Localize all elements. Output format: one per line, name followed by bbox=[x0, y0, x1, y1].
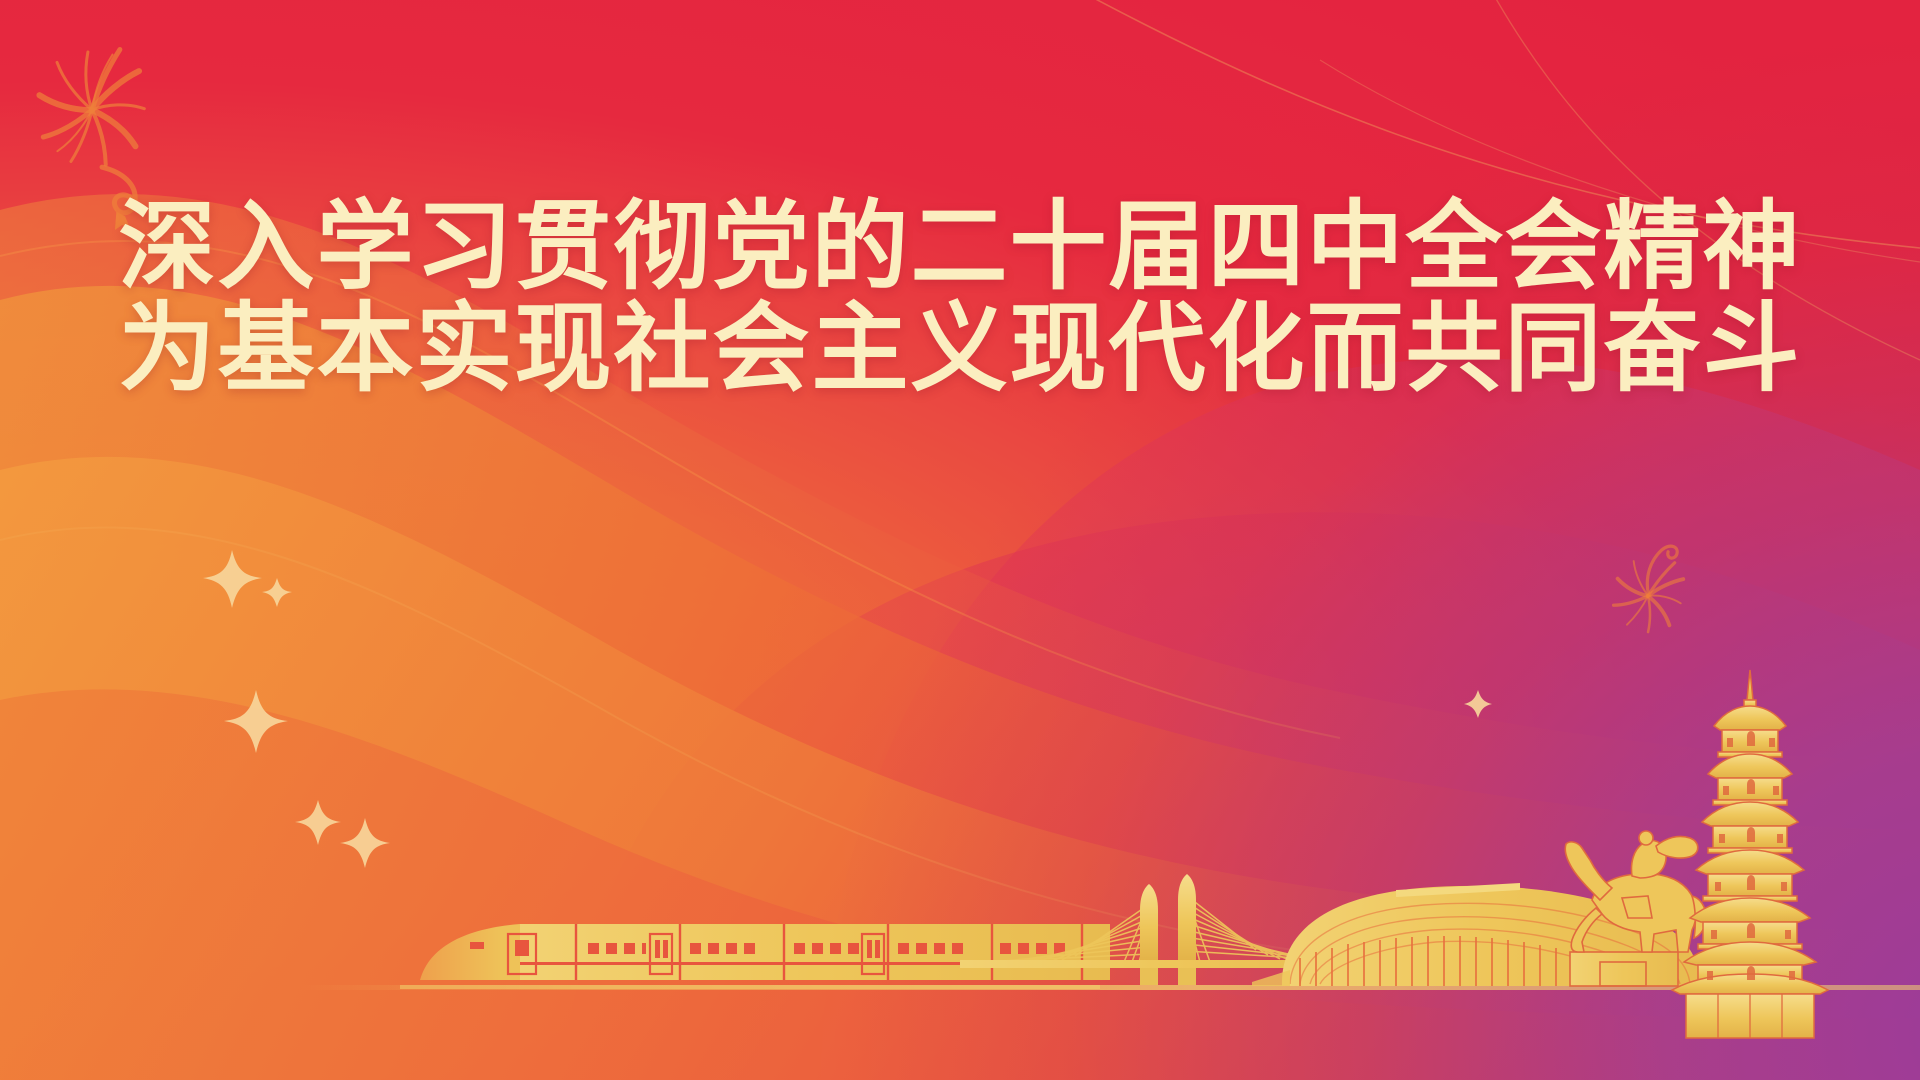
pagoda-base-dividers bbox=[1718, 994, 1782, 1038]
saddle-blanket bbox=[1622, 896, 1652, 918]
pagoda-body-2 bbox=[1718, 778, 1782, 800]
pagoda-balcony-4 bbox=[1703, 896, 1797, 901]
train-doors bbox=[508, 934, 884, 974]
pagoda-balcony-2 bbox=[1713, 800, 1787, 805]
horse-head bbox=[1565, 842, 1612, 900]
pagoda-body-5 bbox=[1703, 922, 1797, 944]
bridge-pier-right bbox=[1178, 968, 1196, 985]
sparkle-star bbox=[224, 690, 288, 753]
pagoda-roof-4 bbox=[1696, 850, 1804, 874]
train-nose bbox=[420, 924, 1090, 980]
bridge-pier-left bbox=[1140, 968, 1158, 985]
pagoda-balcony-3 bbox=[1708, 848, 1792, 853]
wave-orange-bottom bbox=[0, 689, 1920, 1080]
pagoda-roof-3 bbox=[1702, 802, 1798, 826]
rider-cape bbox=[1656, 836, 1698, 858]
train-cab-window bbox=[470, 942, 484, 949]
sparkle-star bbox=[295, 800, 341, 845]
sparkle-star bbox=[1464, 690, 1492, 718]
train-stripe bbox=[520, 962, 1090, 965]
headline-line-2: 为基本实现社会主义现代化而共同奋斗 bbox=[0, 298, 1920, 400]
pagoda-spire-base bbox=[1744, 700, 1756, 708]
pagoda-balcony-1 bbox=[1718, 752, 1782, 757]
pagoda-body-1 bbox=[1722, 730, 1778, 752]
stadium bbox=[1252, 883, 1700, 986]
pagoda-base bbox=[1686, 994, 1814, 1038]
cable-stayed-bridge bbox=[960, 874, 1380, 985]
pagoda-base-roof bbox=[1672, 974, 1828, 994]
bridge-cables bbox=[980, 895, 1364, 962]
rider-torso bbox=[1631, 841, 1666, 878]
pagoda-body-4 bbox=[1708, 874, 1792, 896]
sparkle-stars bbox=[0, 0, 1920, 1080]
sparkle-star bbox=[262, 578, 292, 607]
ground-line bbox=[300, 985, 1920, 990]
train-body bbox=[520, 924, 1110, 980]
headline-line-1: 深入学习贯彻党的二十届四中全会精神 bbox=[0, 196, 1920, 298]
pagoda-roof-1 bbox=[1714, 706, 1786, 730]
pagoda-roof-5 bbox=[1690, 898, 1810, 922]
equestrian-statue bbox=[1565, 831, 1706, 986]
pagoda-windows bbox=[1707, 731, 1795, 980]
background-purple-overlay bbox=[0, 0, 1920, 1080]
background-rose-bloom bbox=[0, 0, 1920, 1080]
horse-body bbox=[1592, 874, 1696, 952]
bridge-deck bbox=[960, 960, 1380, 968]
firework-decorations bbox=[0, 0, 1920, 1080]
gold-thread-arcs bbox=[0, 0, 1920, 1080]
stadium-roof-crest bbox=[1396, 883, 1520, 897]
train-motion-streak bbox=[400, 985, 1100, 989]
wave-magenta-swell bbox=[820, 358, 1920, 1080]
wave-orange-lower bbox=[0, 457, 1920, 1080]
bridge-tower-left bbox=[1140, 884, 1158, 962]
pagoda-roof-2 bbox=[1708, 754, 1792, 778]
background-base-gradient bbox=[0, 0, 1920, 1080]
pagoda-body-6 bbox=[1698, 965, 1802, 983]
statue-pedestal bbox=[1570, 952, 1678, 986]
banner-root: 深入学习贯彻党的二十届四中全会精神 为基本实现社会主义现代化而共同奋斗 bbox=[0, 0, 1920, 1080]
stadium-shell bbox=[1282, 886, 1700, 986]
rider-head bbox=[1639, 831, 1653, 845]
stadium-roof-bands bbox=[1290, 903, 1690, 984]
pagoda-body-3 bbox=[1713, 826, 1787, 848]
horse-front-leg-raised bbox=[1571, 908, 1602, 952]
bridge-tower-right bbox=[1178, 874, 1196, 962]
pagoda-balcony-5 bbox=[1698, 944, 1802, 949]
wave-orange-mid bbox=[0, 286, 1920, 1080]
train-door-panels bbox=[515, 940, 880, 958]
background-wave-ribbons bbox=[0, 0, 1920, 1080]
sparkle-star bbox=[340, 818, 390, 868]
wave-pink-arc bbox=[560, 512, 1920, 1080]
pagoda-roof-6 bbox=[1684, 942, 1816, 965]
train-windows bbox=[588, 943, 1065, 954]
stadium-facade-columns bbox=[1300, 936, 1668, 986]
statue-pedestal-panel bbox=[1600, 962, 1646, 986]
stadium-podium bbox=[1252, 970, 1290, 986]
train-car-separators bbox=[576, 924, 1082, 980]
sparkle-star bbox=[203, 550, 262, 608]
pagoda-spire bbox=[1747, 670, 1753, 700]
horse-tail bbox=[1692, 896, 1706, 938]
skyline-illustration bbox=[0, 0, 1920, 1080]
pagoda bbox=[1672, 670, 1828, 1038]
page-title: 深入学习贯彻党的二十届四中全会精神 为基本实现社会主义现代化而共同奋斗 bbox=[0, 196, 1920, 400]
firework-right-icon bbox=[1611, 541, 1686, 635]
wave-highlight-streak-2 bbox=[0, 528, 1320, 954]
high-speed-train bbox=[400, 924, 1110, 989]
